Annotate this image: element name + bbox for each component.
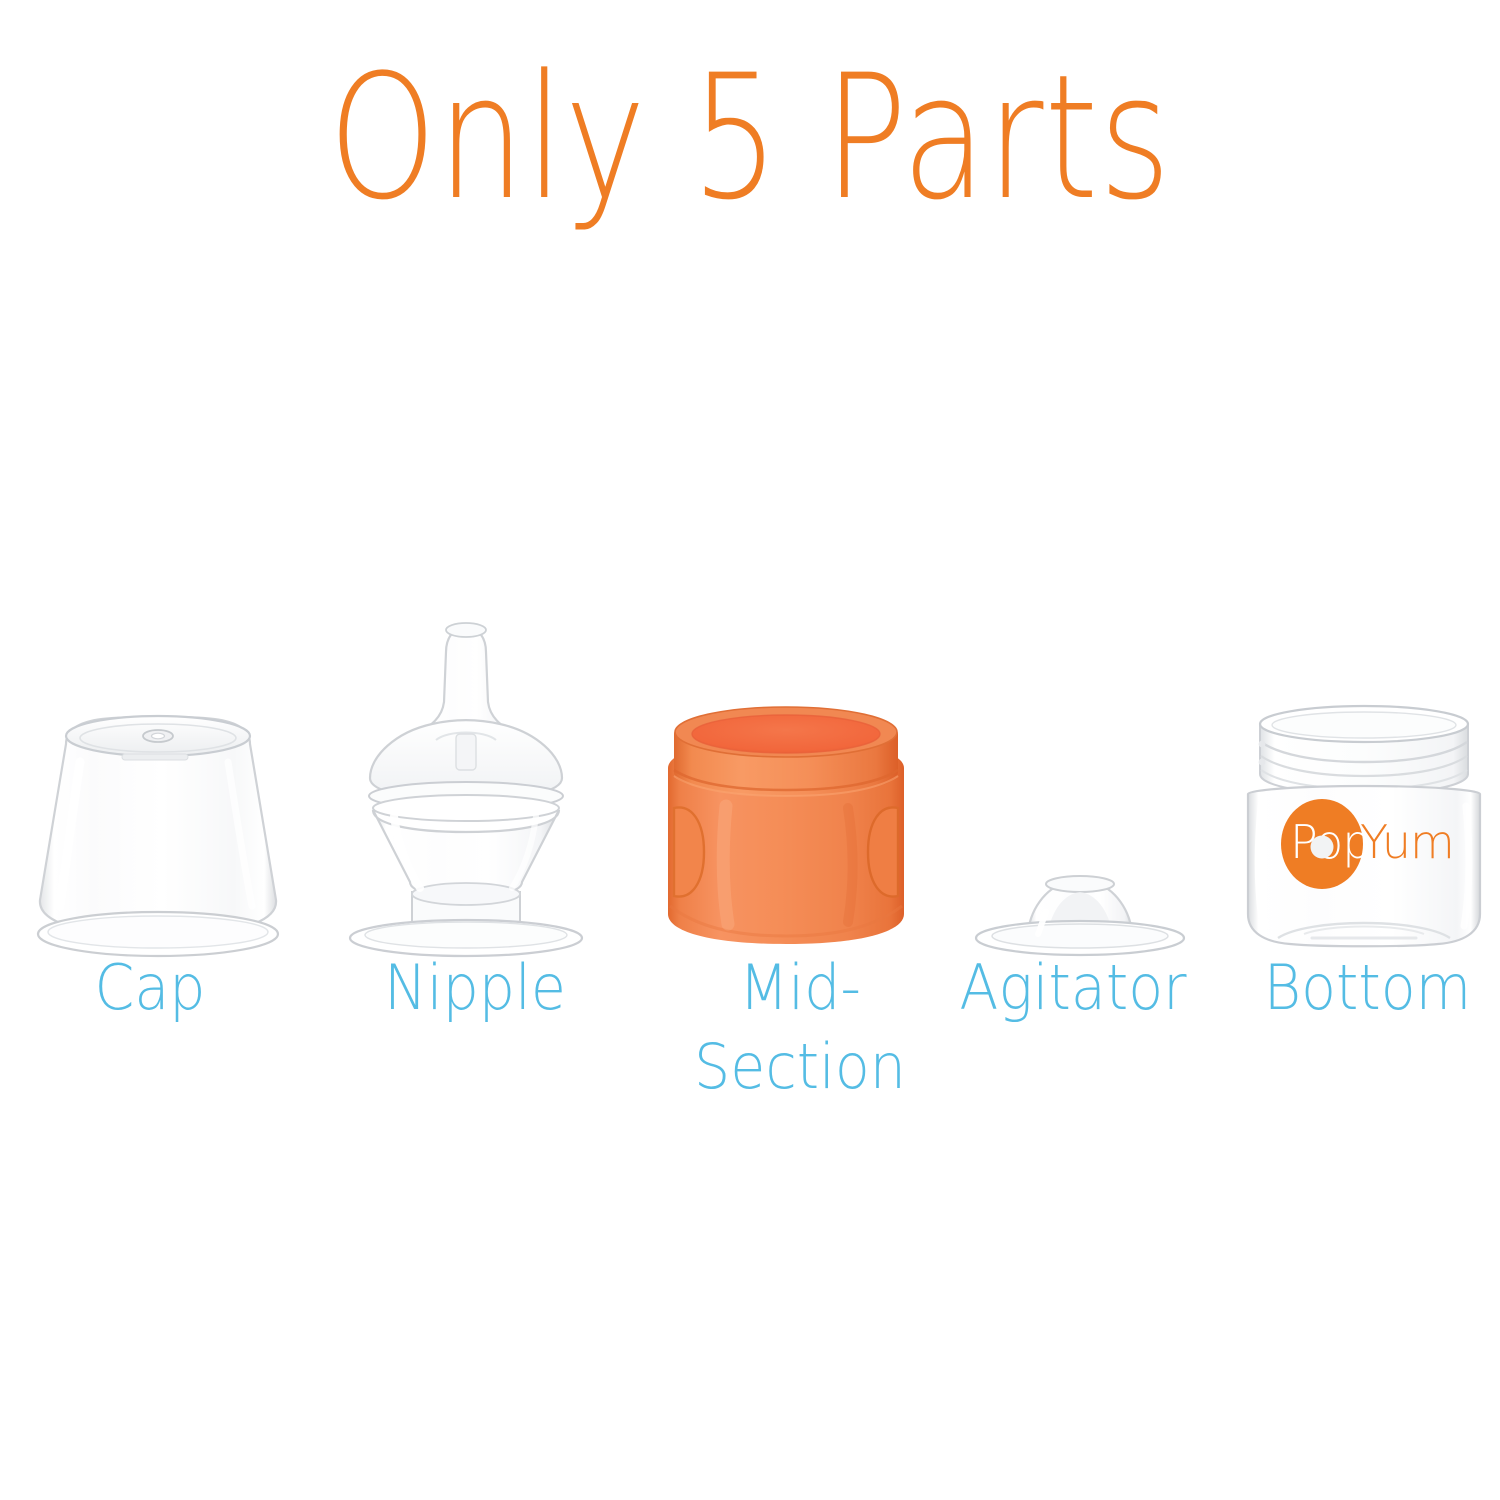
nipple-teat [420, 626, 512, 732]
bottle-bottom-jar-icon: Pop Yum [1238, 698, 1490, 960]
part-image-cap [14, 700, 304, 960]
part-label-agitator: Agitator [930, 948, 1215, 1027]
parts-illustration-row: Pop Yum [0, 560, 1500, 960]
jar-mouth-inner [1272, 712, 1456, 738]
popyum-logo-yum: Yum [1360, 815, 1454, 869]
part-label-bottom: Bottom [1246, 948, 1490, 1027]
part-label-mid-section: Mid- Section [671, 948, 929, 1107]
bottle-mid-section-icon [652, 700, 920, 960]
part-label-cap: Cap [40, 948, 261, 1027]
cap-vent-hole [152, 733, 165, 739]
part-label-mid-section-line1: Mid- [671, 948, 929, 1027]
part-image-bottom: Pop Yum [1238, 698, 1490, 960]
nipple-collar-ring-lower [373, 795, 559, 821]
agitator-dome-top [1046, 876, 1114, 892]
jar-highlight-left [1259, 806, 1264, 926]
mid-section-highlight-left [723, 806, 728, 924]
bottle-cap-icon [14, 700, 304, 960]
part-label-mid-section-line2: Section [671, 1027, 929, 1106]
nipple-teat-tip [446, 623, 486, 637]
cap-tab-mark [122, 754, 188, 760]
part-image-nipple [336, 610, 596, 960]
part-labels-row: Cap Nipple Mid- Section Agitator Bottom [0, 948, 1500, 1148]
part-image-mid-section [652, 700, 920, 960]
part-image-agitator [972, 850, 1188, 960]
cap-bottom-inner-rim [48, 916, 268, 948]
mid-section-shadow-right [848, 808, 853, 922]
popyum-logo-o-dot [1311, 836, 1334, 859]
jar-thread-start-upper [1259, 741, 1266, 748]
nipple-vent-bar [456, 734, 476, 770]
part-label-nipple: Nipple [342, 948, 609, 1027]
page-title: Only 5 Parts [150, 52, 1350, 224]
nipple-base-flange-inner [365, 922, 567, 948]
jar-thread-start-lower [1259, 759, 1266, 766]
agitator-flange-inner [992, 924, 1168, 948]
bottle-nipple-icon [336, 610, 596, 960]
parts-diagram: Only 5 Parts [0, 0, 1500, 1500]
bottle-agitator-icon [972, 850, 1188, 960]
nipple-stem-top-ring [412, 883, 520, 905]
